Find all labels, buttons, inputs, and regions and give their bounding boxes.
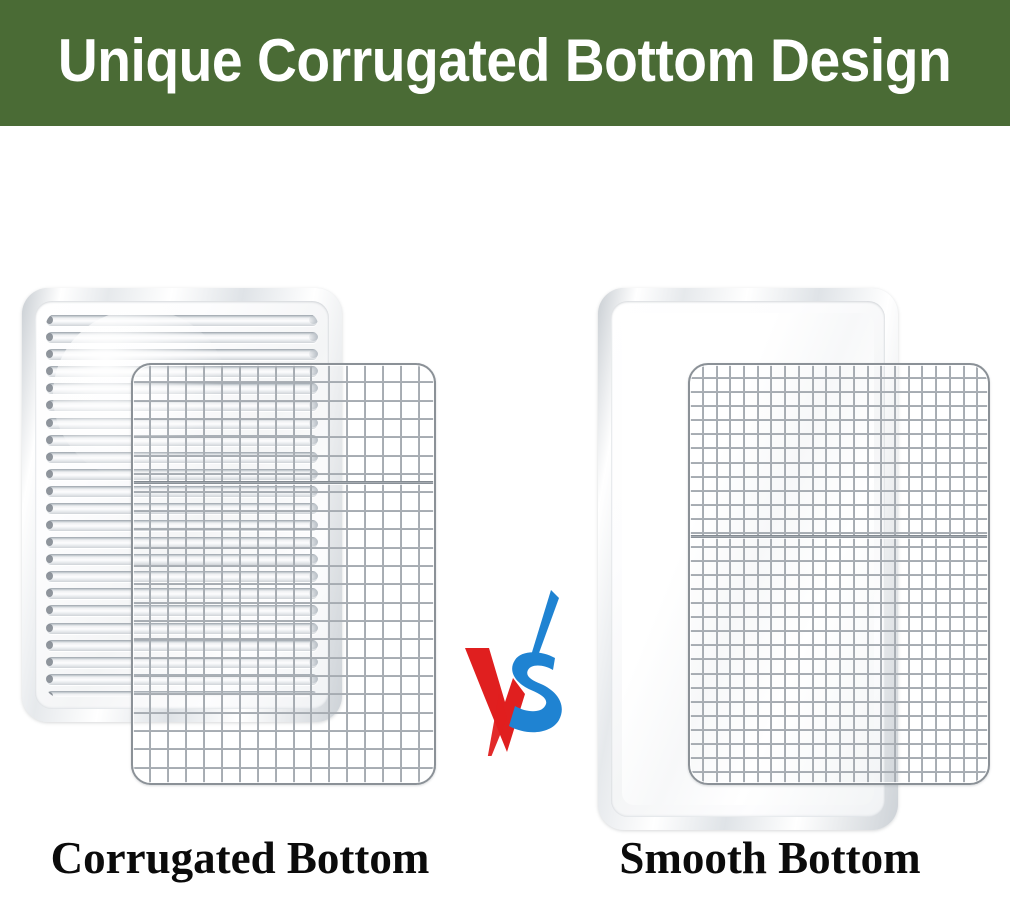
rack-wire-horizontal xyxy=(131,748,436,750)
rack-wire-horizontal xyxy=(688,419,990,421)
rack-wire-horizontal xyxy=(688,630,990,632)
rack-wire-horizontal xyxy=(131,730,436,732)
header-banner: Unique Corrugated Bottom Design xyxy=(0,0,1010,126)
cooling-rack xyxy=(131,363,436,785)
rack-wire-horizontal xyxy=(131,675,436,677)
rack-wire-horizontal xyxy=(131,491,436,493)
rack-wire-horizontal xyxy=(688,405,990,407)
rack-wire-horizontal xyxy=(688,391,990,393)
rack-wire-horizontal xyxy=(131,638,436,640)
rack-wire-horizontal xyxy=(688,532,990,534)
rack-wire-horizontal xyxy=(688,771,990,773)
rack-wire-horizontal xyxy=(131,712,436,714)
rack-wire-horizontal xyxy=(131,528,436,530)
rack-wire-vertical xyxy=(418,363,420,785)
rack-wire-horizontal xyxy=(688,715,990,717)
rack-wire-horizontal xyxy=(131,436,436,438)
rack-wire-vertical xyxy=(364,363,366,785)
rack-wire-horizontal xyxy=(131,547,436,549)
rack-wire-horizontal xyxy=(688,447,990,449)
rack-support-bar xyxy=(690,535,988,538)
rack-wire-horizontal xyxy=(688,729,990,731)
rack-wire-vertical xyxy=(400,363,402,785)
rack-wire-horizontal xyxy=(131,602,436,604)
rack-wire-vertical xyxy=(185,363,187,785)
rack-wire-horizontal xyxy=(688,658,990,660)
rack-wire-horizontal xyxy=(688,560,990,562)
right-caption: Smooth Bottom xyxy=(530,836,1010,881)
rack-wire-horizontal xyxy=(688,673,990,675)
rack-wire-horizontal xyxy=(688,602,990,604)
rack-wire-horizontal xyxy=(688,546,990,548)
rack-wire-horizontal xyxy=(688,644,990,646)
corrugated-ridge xyxy=(46,315,318,326)
rack-wire-vertical xyxy=(203,363,205,785)
rack-wire-horizontal xyxy=(688,588,990,590)
rack-wire-vertical xyxy=(346,363,348,785)
rack-wire-horizontal xyxy=(131,565,436,567)
rack-wire-horizontal xyxy=(688,616,990,618)
rack-wire-horizontal xyxy=(131,510,436,512)
rack-wire-horizontal xyxy=(688,476,990,478)
rack-wire-horizontal xyxy=(131,583,436,585)
rack-wire-horizontal xyxy=(131,693,436,695)
rack-wire-horizontal xyxy=(688,377,990,379)
rack-wire-horizontal xyxy=(688,743,990,745)
rack-wire-vertical xyxy=(257,363,259,785)
versus-emblem xyxy=(455,576,575,756)
rack-wire-vertical xyxy=(275,363,277,785)
rack-wire-vertical xyxy=(293,363,295,785)
rack-wire-horizontal xyxy=(131,657,436,659)
comparison-stage xyxy=(0,126,1010,900)
rack-wire-vertical xyxy=(382,363,384,785)
rack-wire-horizontal xyxy=(131,473,436,475)
rack-wire-horizontal xyxy=(131,620,436,622)
rack-wire-horizontal xyxy=(688,574,990,576)
page-title: Unique Corrugated Bottom Design xyxy=(58,31,951,95)
rack-wire-horizontal xyxy=(131,418,436,420)
rack-wire-horizontal xyxy=(688,687,990,689)
rack-wire-horizontal xyxy=(688,757,990,759)
rack-wire-horizontal xyxy=(688,504,990,506)
rack-wire-horizontal xyxy=(131,400,436,402)
corrugated-ridge xyxy=(46,349,318,360)
rack-wire-horizontal xyxy=(688,490,990,492)
rack-wire-horizontal xyxy=(688,462,990,464)
rack-wire-vertical xyxy=(310,363,312,785)
rack-support-bar xyxy=(133,481,434,484)
rack-wire-mesh xyxy=(688,363,990,785)
left-caption: Corrugated Bottom xyxy=(0,836,480,881)
rack-wire-vertical xyxy=(149,363,151,785)
rack-wire-horizontal xyxy=(131,455,436,457)
rack-wire-horizontal xyxy=(688,433,990,435)
versus-icon xyxy=(455,576,575,756)
rack-wire-vertical xyxy=(328,363,330,785)
rack-wire-horizontal xyxy=(131,767,436,769)
rack-wire-horizontal xyxy=(688,701,990,703)
cooling-rack xyxy=(688,363,990,785)
rack-wire-vertical xyxy=(167,363,169,785)
rack-wire-mesh xyxy=(131,363,436,785)
rack-wire-vertical xyxy=(239,363,241,785)
rack-wire-horizontal xyxy=(688,518,990,520)
corrugated-ridge xyxy=(46,332,318,343)
rack-wire-vertical xyxy=(221,363,223,785)
rack-wire-horizontal xyxy=(131,381,436,383)
